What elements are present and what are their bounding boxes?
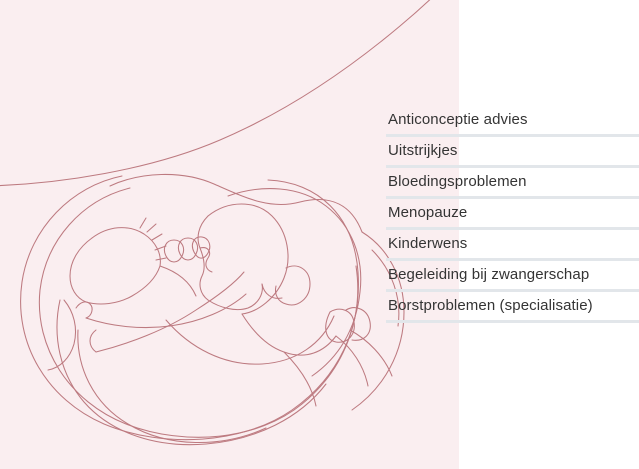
list-item[interactable]: Anticonceptie advies <box>386 106 639 134</box>
service-label: Kinderwens <box>386 235 467 253</box>
list-item[interactable]: Menopauze <box>386 199 639 227</box>
list-item[interactable]: Begeleiding bij zwangerschap <box>386 261 639 289</box>
service-label: Menopauze <box>386 204 467 222</box>
list-item[interactable]: Borstproblemen (specialisatie) <box>386 292 639 320</box>
list-divider <box>386 320 639 323</box>
service-label: Bloedingsproblemen <box>386 173 527 191</box>
service-label: Begeleiding bij zwangerschap <box>386 266 589 284</box>
service-label: Anticonceptie advies <box>386 111 528 129</box>
list-item[interactable]: Kinderwens <box>386 230 639 258</box>
service-label: Borstproblemen (specialisatie) <box>386 297 593 315</box>
list-item[interactable]: Uitstrijkjes <box>386 137 639 165</box>
services-list: Anticonceptie advies Uitstrijkjes Bloedi… <box>386 106 639 323</box>
page-root: Anticonceptie advies Uitstrijkjes Bloedi… <box>0 0 639 469</box>
list-item[interactable]: Bloedingsproblemen <box>386 168 639 196</box>
service-label: Uitstrijkjes <box>386 142 458 160</box>
